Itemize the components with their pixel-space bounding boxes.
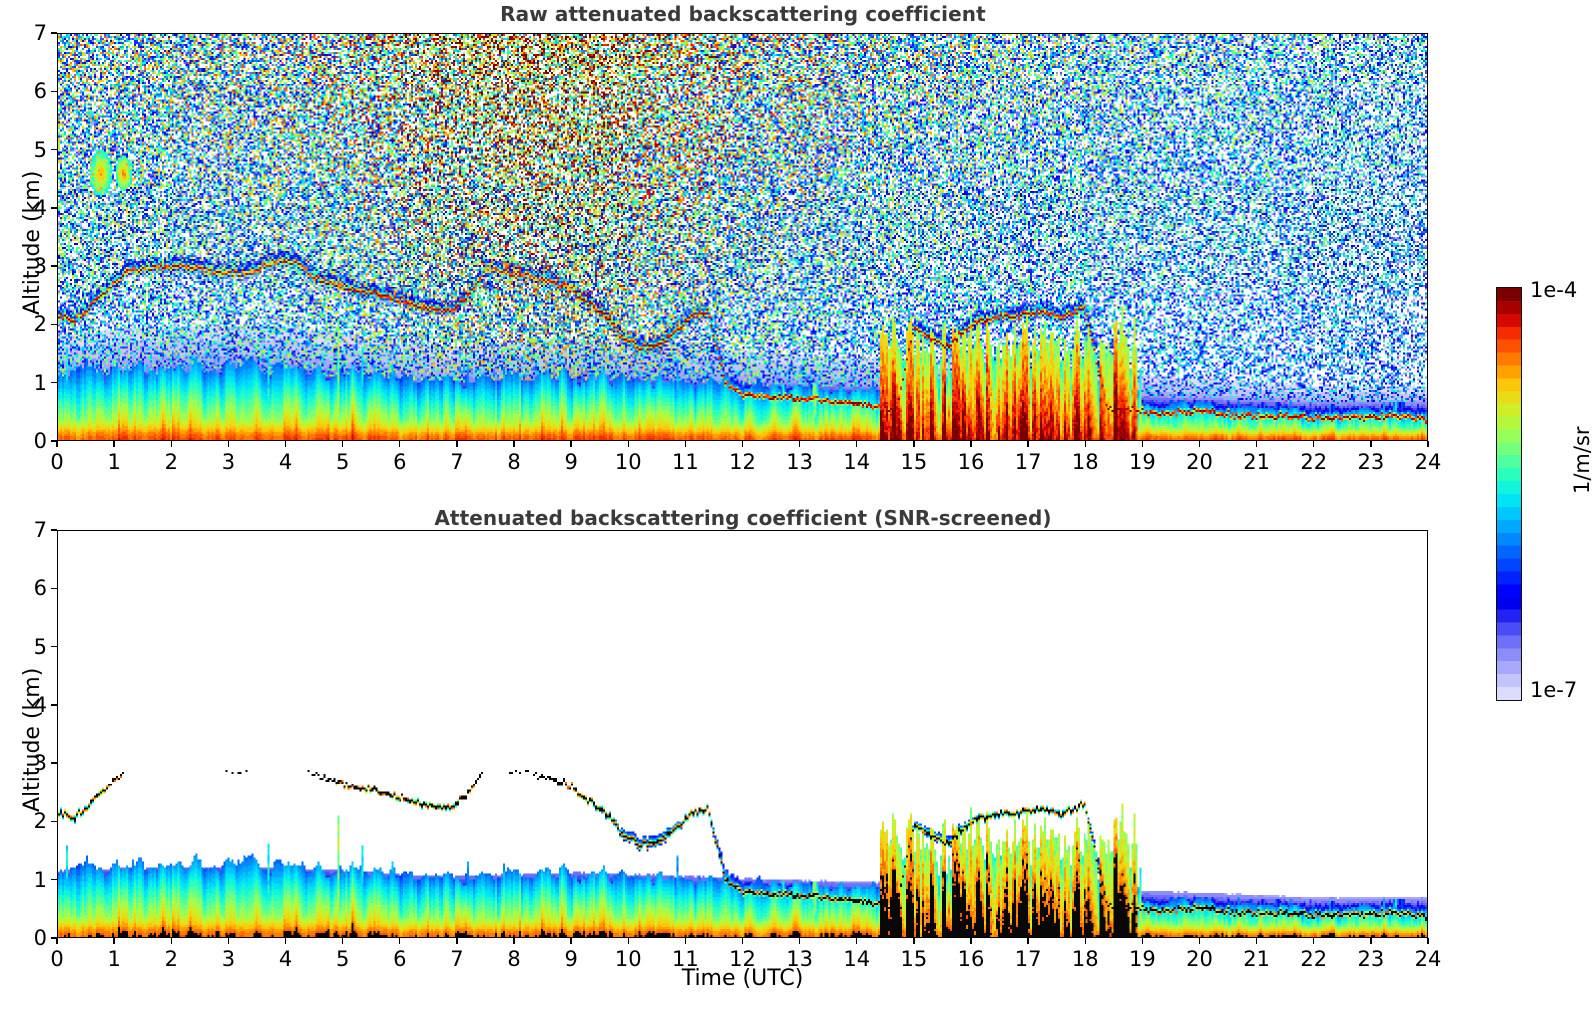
- y-tick: [51, 646, 57, 647]
- y-tick: [51, 879, 57, 880]
- x-tick: [1427, 441, 1428, 447]
- x-tick: [171, 441, 172, 447]
- y-tick: [51, 265, 57, 266]
- x-tick: [513, 441, 514, 447]
- y-tick-label: 2: [15, 809, 47, 833]
- x-tick: [913, 938, 914, 944]
- x-tick-label: 4: [279, 450, 292, 474]
- x-tick: [913, 441, 914, 447]
- x-tick: [1199, 441, 1200, 447]
- x-tick: [1370, 441, 1371, 447]
- panel-title-raw: Raw attenuated backscattering coefficien…: [57, 2, 1429, 26]
- x-tick-label: 11: [672, 450, 699, 474]
- y-tick-label: 0: [15, 429, 47, 453]
- x-tick: [1256, 441, 1257, 447]
- x-tick: [1142, 441, 1143, 447]
- plot-area-raw: [57, 33, 1428, 441]
- x-tick-label: 17: [1015, 450, 1042, 474]
- x-tick: [399, 938, 400, 944]
- x-tick: [56, 441, 57, 447]
- x-tick: [742, 938, 743, 944]
- x-tick-label: 19: [1129, 450, 1156, 474]
- y-tick: [51, 762, 57, 763]
- x-tick-label: 21: [1243, 450, 1270, 474]
- x-tick-label: 0: [50, 450, 63, 474]
- x-tick: [1085, 938, 1086, 944]
- x-tick: [1027, 441, 1028, 447]
- y-tick: [51, 324, 57, 325]
- y-tick: [51, 149, 57, 150]
- x-tick: [685, 938, 686, 944]
- x-tick-label: 8: [507, 450, 520, 474]
- plot-area-screened: [57, 530, 1428, 938]
- x-tick: [1142, 938, 1143, 944]
- x-tick: [513, 938, 514, 944]
- heatmap-raw: [58, 34, 1427, 440]
- x-tick-label: 2: [165, 450, 178, 474]
- x-tick: [1085, 441, 1086, 447]
- x-tick: [342, 938, 343, 944]
- y-tick-label: 6: [15, 79, 47, 103]
- x-tick-label: 13: [786, 450, 813, 474]
- x-tick: [799, 938, 800, 944]
- y-tick: [51, 382, 57, 383]
- x-tick: [970, 441, 971, 447]
- x-tick: [628, 441, 629, 447]
- x-tick: [56, 938, 57, 944]
- x-tick: [856, 441, 857, 447]
- y-tick-label: 5: [15, 138, 47, 162]
- x-tick-label: 1: [107, 450, 120, 474]
- y-tick-label: 7: [15, 21, 47, 45]
- x-tick-label: 12: [729, 450, 756, 474]
- y-tick-label: 0: [15, 926, 47, 950]
- y-tick-label: 6: [15, 576, 47, 600]
- x-tick: [570, 938, 571, 944]
- colorbar-unit-label: 1/m/sr: [1570, 426, 1594, 494]
- y-tick: [51, 704, 57, 705]
- colorbar: [1496, 287, 1522, 701]
- x-axis-label: Time (UTC): [57, 966, 1428, 991]
- colorbar-max-label: 1e-4: [1530, 278, 1577, 302]
- y-tick: [51, 588, 57, 589]
- x-tick-label: 15: [901, 450, 928, 474]
- y-tick-label: 1: [15, 371, 47, 395]
- x-tick: [399, 441, 400, 447]
- x-tick: [113, 441, 114, 447]
- x-tick: [970, 938, 971, 944]
- panel-title-screened: Attenuated backscattering coefficient (S…: [57, 506, 1429, 530]
- x-tick: [285, 938, 286, 944]
- x-tick-label: 16: [958, 450, 985, 474]
- x-tick: [456, 938, 457, 944]
- x-tick: [113, 938, 114, 944]
- x-tick: [570, 441, 571, 447]
- colorbar-min-label: 1e-7: [1530, 678, 1577, 702]
- x-tick: [799, 441, 800, 447]
- y-axis-label-raw: Altitude (km): [20, 171, 45, 315]
- x-tick: [628, 938, 629, 944]
- x-tick: [1027, 938, 1028, 944]
- y-tick: [51, 32, 57, 33]
- x-tick: [1313, 938, 1314, 944]
- x-tick: [228, 441, 229, 447]
- x-tick: [228, 938, 229, 944]
- colorbar-gradient: [1496, 287, 1522, 701]
- x-tick-label: 20: [1186, 450, 1213, 474]
- x-tick-label: 10: [615, 450, 642, 474]
- x-tick: [856, 938, 857, 944]
- x-tick-label: 6: [393, 450, 406, 474]
- heatmap-screened: [58, 531, 1427, 937]
- x-tick-label: 3: [222, 450, 235, 474]
- x-tick: [285, 441, 286, 447]
- y-axis-label-screened: Altitude (km): [20, 668, 45, 812]
- x-tick-label: 5: [336, 450, 349, 474]
- x-tick-label: 18: [1072, 450, 1099, 474]
- y-tick: [51, 821, 57, 822]
- x-tick-label: 14: [843, 450, 870, 474]
- x-tick: [685, 441, 686, 447]
- y-tick: [51, 440, 57, 441]
- x-tick: [1256, 938, 1257, 944]
- x-tick-label: 22: [1300, 450, 1327, 474]
- figure-canvas: Raw attenuated backscattering coefficien…: [0, 0, 1595, 1020]
- x-tick: [1313, 441, 1314, 447]
- y-tick-label: 2: [15, 312, 47, 336]
- y-tick: [51, 91, 57, 92]
- x-tick: [1370, 938, 1371, 944]
- x-tick: [1427, 938, 1428, 944]
- y-tick: [51, 937, 57, 938]
- x-tick: [456, 441, 457, 447]
- y-tick: [51, 529, 57, 530]
- x-tick-label: 23: [1358, 450, 1385, 474]
- y-tick-label: 1: [15, 868, 47, 892]
- x-tick-label: 24: [1415, 450, 1442, 474]
- x-tick: [742, 441, 743, 447]
- x-tick: [171, 938, 172, 944]
- x-tick: [342, 441, 343, 447]
- x-tick-label: 7: [450, 450, 463, 474]
- x-tick-label: 9: [564, 450, 577, 474]
- y-tick-label: 7: [15, 518, 47, 542]
- y-tick: [51, 207, 57, 208]
- y-tick-label: 5: [15, 635, 47, 659]
- x-tick: [1199, 938, 1200, 944]
